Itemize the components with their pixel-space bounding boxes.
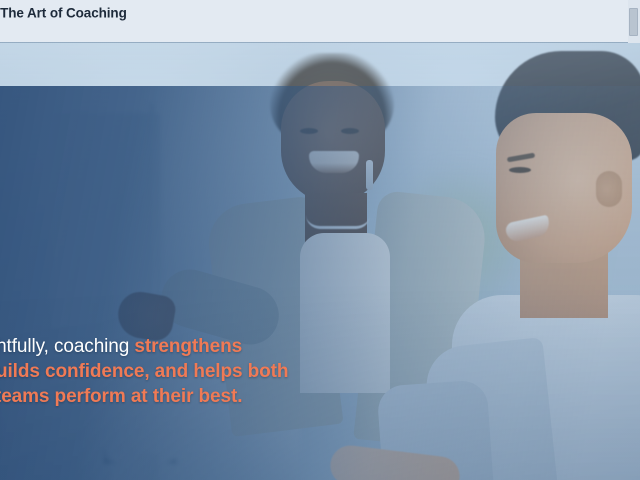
page-header: Briefs® The Art of Coaching ion: [0, 0, 640, 43]
scrollbar-thumb[interactable]: [629, 8, 638, 36]
headline-emphasis: strengthens: [134, 336, 242, 357]
hero-headline: done thoughtfully, coaching strengthens …: [0, 334, 362, 409]
hero-banner: done thoughtfully, coaching strengthens …: [0, 43, 640, 480]
headline-line-1: done thoughtfully, coaching strengthens: [0, 334, 362, 359]
header-text-group: Briefs® The Art of Coaching ion: [0, 2, 127, 39]
page-title-rest: The Art of Coaching: [0, 6, 127, 21]
headline-line-1-plain: done thoughtfully, coaching: [0, 336, 134, 357]
page-root: Briefs® The Art of Coaching ion: [0, 0, 640, 480]
headline-line-3: duals and teams perform at their best.: [0, 384, 362, 409]
hero-bottom-shade: [0, 86, 640, 480]
page-subtitle: ion: [0, 23, 127, 39]
headline-line-2: onships, builds confidence, and helps bo…: [0, 359, 362, 384]
scrollbar-track[interactable]: [628, 0, 640, 43]
page-title: Briefs® The Art of Coaching: [0, 2, 127, 22]
